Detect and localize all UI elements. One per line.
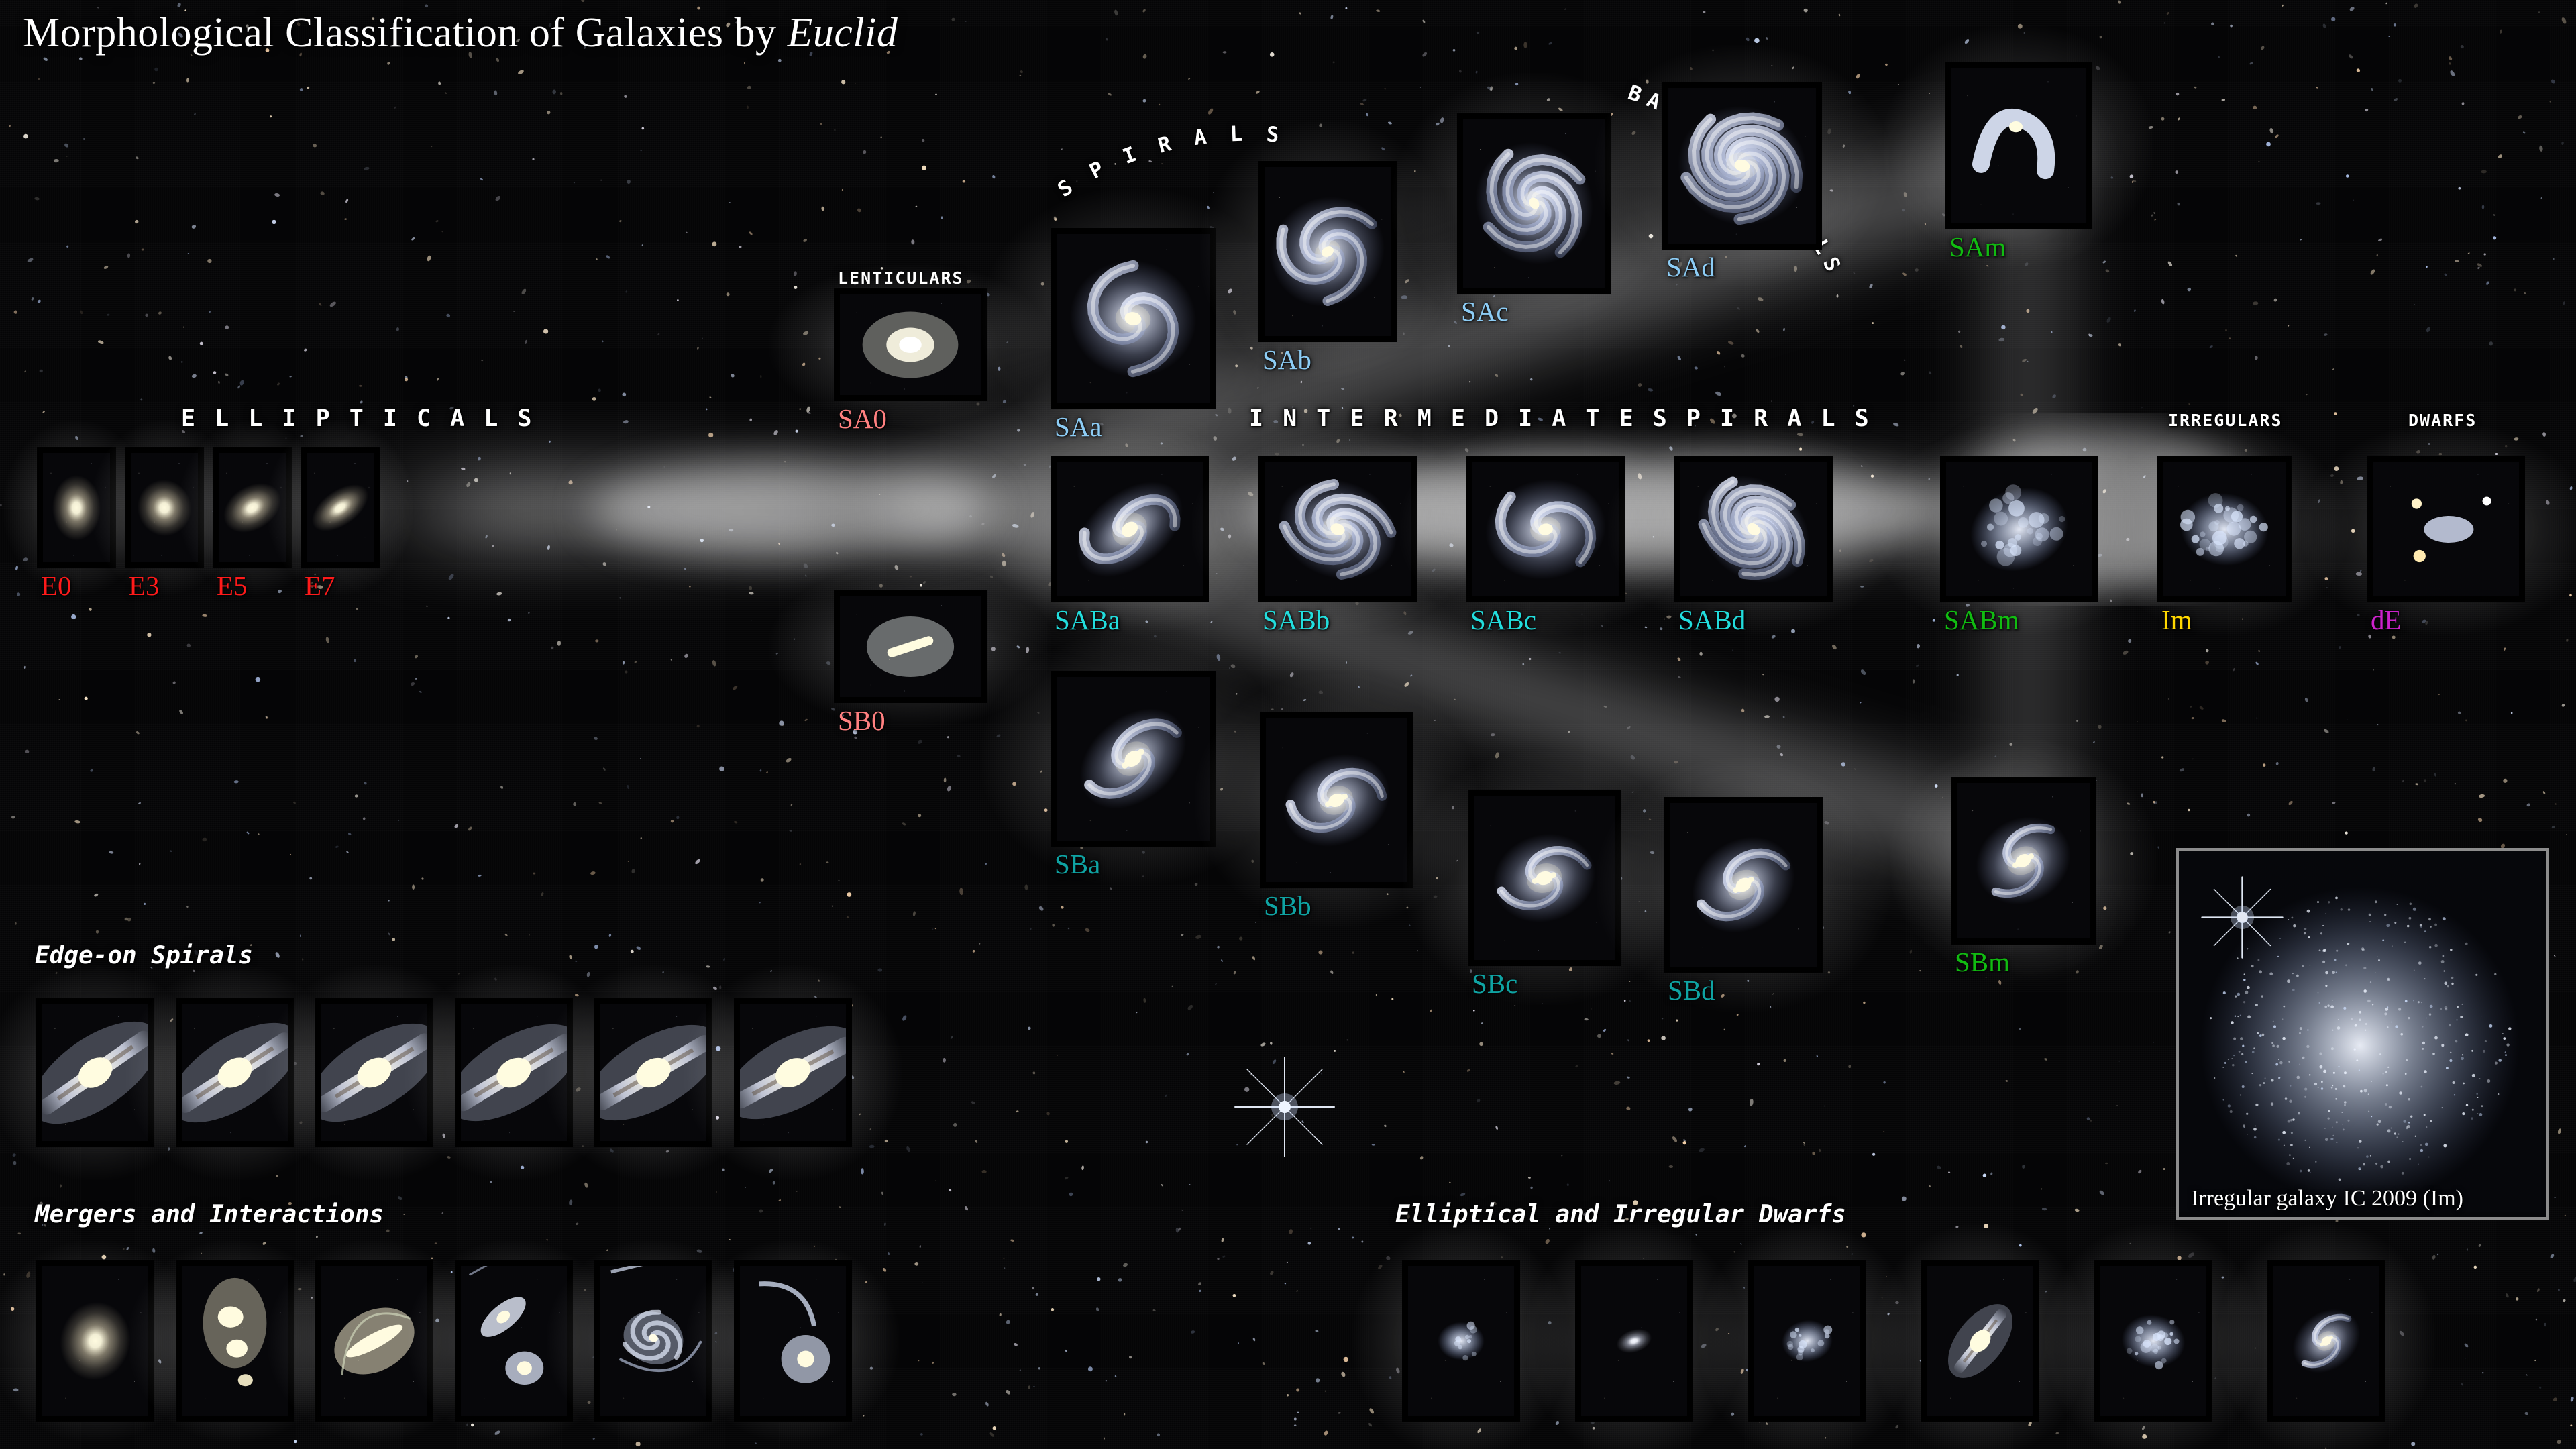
- galaxy-type-label: SABd: [1678, 606, 1746, 634]
- galaxy-image: [1957, 783, 2090, 938]
- galaxy-image: [1057, 462, 1203, 596]
- inset-image: [2179, 851, 2546, 1217]
- galaxy-image: [461, 1266, 567, 1416]
- galaxy-type-label: E3: [129, 572, 160, 600]
- galaxy-type-label: SABa: [1055, 606, 1120, 634]
- galaxy-thumbnail[interactable]: [36, 998, 154, 1147]
- galaxy-image: [1754, 1266, 1860, 1416]
- galaxy-image: [1057, 234, 1210, 403]
- galaxy-thumbnail[interactable]: [1402, 1260, 1520, 1422]
- galaxy-image: [219, 453, 286, 562]
- arc-header-letter: A: [1192, 125, 1208, 150]
- galaxy-thumbnail[interactable]: [125, 447, 204, 568]
- galaxy-image: [1408, 1266, 1514, 1416]
- galaxy-image: [1668, 88, 1816, 244]
- galaxy-image: [461, 1004, 567, 1141]
- galaxy-thumbnail[interactable]: [1051, 228, 1216, 409]
- galaxy-thumbnail[interactable]: [1921, 1260, 2039, 1422]
- title-italic: Euclid: [787, 10, 898, 56]
- galaxy-type-label: SBm: [1955, 949, 2010, 976]
- galaxy-type-label: SBb: [1264, 892, 1311, 920]
- galaxy-thumbnail[interactable]: [1051, 456, 1209, 602]
- galaxy-image: [840, 596, 981, 697]
- galaxy-thumbnail[interactable]: [2094, 1260, 2212, 1422]
- galaxy-image: [1474, 796, 1615, 960]
- galaxy-image: [1927, 1266, 2033, 1416]
- arc-header-letter: P: [1085, 156, 1108, 184]
- galaxy-thumbnail[interactable]: [301, 447, 380, 568]
- galaxy-type-label: SA0: [838, 405, 887, 433]
- galaxy-type-label: SABm: [1944, 606, 2019, 634]
- arc-header-letter: S: [1053, 174, 1077, 201]
- galaxy-type-label: E5: [217, 572, 248, 600]
- galaxy-thumbnail[interactable]: [2267, 1260, 2385, 1422]
- galaxy-thumbnail[interactable]: [213, 447, 292, 568]
- galaxy-image: [1946, 462, 2092, 596]
- galaxy-type-label: SBd: [1668, 977, 1715, 1004]
- galaxy-thumbnail[interactable]: [37, 447, 116, 568]
- galaxy-thumbnail[interactable]: [2367, 456, 2525, 602]
- arc-header-letter: L: [1230, 122, 1243, 147]
- galaxy-thumbnail[interactable]: [1466, 456, 1625, 602]
- galaxy-type-label: SABc: [1470, 606, 1536, 634]
- galaxy-type-label: SAa: [1055, 413, 1102, 441]
- galaxy-image: [182, 1266, 288, 1416]
- arc-header-letter: I: [1120, 142, 1140, 169]
- galaxy-thumbnail[interactable]: [1258, 161, 1397, 342]
- galaxy-thumbnail[interactable]: [1664, 797, 1823, 973]
- arc-header-letter: A: [1644, 88, 1664, 115]
- galaxy-image: [840, 294, 981, 395]
- galaxy-thumbnail[interactable]: [594, 1260, 712, 1422]
- galaxy-image: [1265, 462, 1411, 596]
- page-title: Morphological Classification of Galaxies…: [23, 9, 898, 57]
- galaxy-thumbnail[interactable]: [36, 1260, 154, 1422]
- galaxy-image: [1265, 167, 1391, 336]
- galaxy-thumbnail[interactable]: [455, 1260, 573, 1422]
- galaxy-image: [43, 453, 110, 562]
- galaxy-thumbnail[interactable]: [1457, 113, 1611, 294]
- galaxy-thumbnail[interactable]: [1260, 712, 1413, 888]
- galaxy-image: [42, 1004, 148, 1141]
- galaxy-image: [600, 1004, 706, 1141]
- galaxy-image: [2163, 462, 2286, 596]
- galaxy-image: [321, 1004, 427, 1141]
- galaxy-type-label: dE: [2371, 606, 2402, 634]
- section-header-edge-on-spirals: Edge-on Spirals: [35, 942, 253, 969]
- section-header-mergers-and-interactions: Mergers and Interactions: [35, 1201, 384, 1228]
- galaxy-type-label: SAb: [1263, 346, 1311, 374]
- galaxy-image: [1951, 68, 2086, 223]
- inset-panel-ic2009: Irregular galaxy IC 2009 (Im): [2176, 848, 2549, 1220]
- galaxy-image: [2100, 1266, 2206, 1416]
- galaxy-type-label: SABb: [1263, 606, 1330, 634]
- galaxy-thumbnail[interactable]: [1662, 82, 1822, 250]
- galaxy-thumbnail[interactable]: [1575, 1260, 1693, 1422]
- arc-header-letter: S: [1817, 254, 1845, 276]
- galaxy-thumbnail[interactable]: [1258, 456, 1417, 602]
- section-header-lenticulars: LENTICULARS: [838, 268, 964, 288]
- galaxy-type-label: SAd: [1666, 254, 1715, 281]
- galaxy-type-label: SB0: [838, 707, 885, 735]
- galaxy-image: [1680, 462, 1827, 596]
- galaxy-type-label: E7: [305, 572, 335, 600]
- galaxy-image: [42, 1266, 148, 1416]
- galaxy-thumbnail[interactable]: [1945, 62, 2092, 229]
- title-main: Morphological Classification of Galaxies…: [23, 10, 787, 56]
- section-header-elliptical-and-irregular-dwarfs: Elliptical and Irregular Dwarfs: [1395, 1201, 1846, 1228]
- galaxy-thumbnail[interactable]: [1940, 456, 2098, 602]
- section-header-irregulars: IRREGULARS: [2168, 411, 2283, 430]
- galaxy-type-label: E0: [41, 572, 72, 600]
- galaxy-thumbnail[interactable]: [834, 288, 987, 401]
- galaxy-image: [2273, 1266, 2379, 1416]
- galaxy-image: [740, 1266, 846, 1416]
- galaxy-thumbnail[interactable]: [594, 998, 712, 1147]
- galaxy-thumbnail[interactable]: [176, 998, 294, 1147]
- galaxy-image: [131, 453, 198, 562]
- section-header-ellipticals: E L L I P T I C A L S: [181, 405, 535, 432]
- section-header-intermediate-spirals: I N T E R M E D I A T E S P I R A L S: [1249, 405, 1872, 432]
- galaxy-thumbnail[interactable]: [1748, 1260, 1866, 1422]
- galaxy-type-label: Im: [2161, 606, 2192, 634]
- galaxy-image: [1670, 803, 1817, 967]
- galaxy-thumbnail[interactable]: [734, 998, 852, 1147]
- galaxy-thumbnail[interactable]: [455, 998, 573, 1147]
- section-header-dwarfs: DWARFS: [2408, 411, 2477, 430]
- arc-header-letter: R: [1155, 131, 1173, 158]
- galaxy-image: [321, 1266, 427, 1416]
- galaxy-image: [307, 453, 374, 562]
- galaxy-type-label: SBc: [1472, 970, 1517, 998]
- galaxy-thumbnail[interactable]: [2157, 456, 2292, 602]
- galaxy-thumbnail[interactable]: [734, 1260, 852, 1422]
- galaxy-image: [1057, 677, 1210, 841]
- galaxy-thumbnail[interactable]: [315, 1260, 433, 1422]
- galaxy-image: [1463, 119, 1605, 288]
- galaxy-thumbnail[interactable]: [1674, 456, 1833, 602]
- galaxy-thumbnail[interactable]: [176, 1260, 294, 1422]
- arc-header-letter: S: [1265, 123, 1279, 148]
- galaxy-image: [1472, 462, 1619, 596]
- galaxy-thumbnail[interactable]: [1051, 671, 1216, 847]
- galaxy-thumbnail[interactable]: [834, 590, 987, 703]
- galaxy-image: [2373, 462, 2519, 596]
- arc-header-letter: B: [1625, 80, 1645, 107]
- galaxy-type-label: SAm: [1949, 233, 2006, 261]
- galaxy-thumbnail[interactable]: [315, 998, 433, 1147]
- galaxy-image: [182, 1004, 288, 1141]
- galaxy-image: [1581, 1266, 1687, 1416]
- galaxy-image: [1266, 718, 1407, 882]
- inset-caption: Irregular galaxy IC 2009 (Im): [2191, 1186, 2463, 1212]
- galaxy-image: [740, 1004, 846, 1141]
- galaxy-type-label: SBa: [1055, 851, 1100, 878]
- galaxy-thumbnail[interactable]: [1951, 777, 2096, 945]
- infographic-canvas: Morphological Classification of Galaxies…: [0, 0, 2576, 1449]
- galaxy-type-label: SAc: [1461, 298, 1509, 325]
- bright-star-diffraction: [1231, 1053, 1338, 1161]
- galaxy-thumbnail[interactable]: [1468, 790, 1621, 966]
- galaxy-image: [600, 1266, 706, 1416]
